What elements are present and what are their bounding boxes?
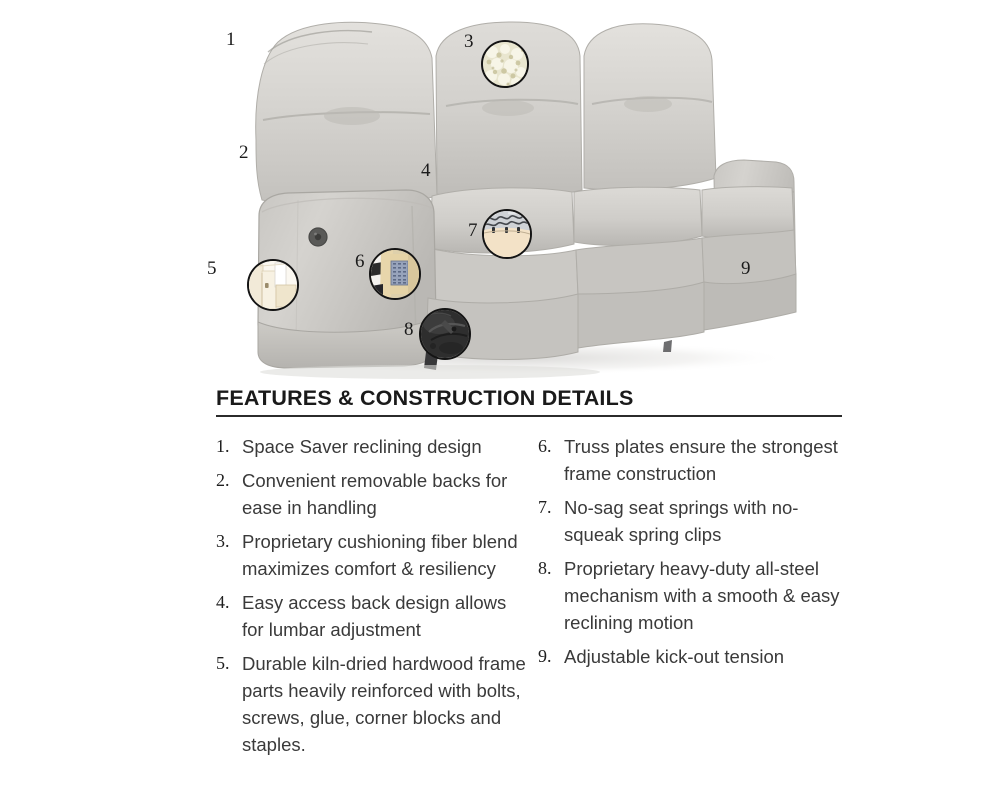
feature-number-1: 1. [216, 433, 242, 460]
feature-item-8: 8. Proprietary heavy-duty all-steel mech… [538, 555, 842, 636]
callout-number-4: 4 [421, 161, 431, 180]
feature-item-4: 4. Easy access back design allows for lu… [216, 589, 532, 643]
feature-item-6: 6. Truss plates ensure the strongest fra… [538, 433, 842, 487]
inset-hardwood-frame [247, 259, 299, 311]
feature-text-5: Durable kiln-dried hardwood frame parts … [242, 650, 532, 758]
feature-item-3: 3. Proprietary cushioning fiber blend ma… [216, 528, 532, 582]
feature-text-2: Convenient removable backs for ease in h… [242, 467, 532, 521]
feature-text-8: Proprietary heavy-duty all-steel mechani… [564, 555, 842, 636]
features-column-right: 6. Truss plates ensure the strongest fra… [538, 433, 842, 677]
features-construction-section: FEATURES & CONSTRUCTION DETAILS 1. Space… [216, 386, 842, 765]
feature-text-9: Adjustable kick-out tension [564, 643, 842, 670]
callout-layer: 1 2 3 4 5 6 7 8 9 [0, 0, 1000, 380]
feature-number-3: 3. [216, 528, 242, 555]
feature-number-7: 7. [538, 494, 564, 521]
callout-number-2: 2 [239, 143, 249, 162]
feature-text-6: Truss plates ensure the strongest frame … [564, 433, 842, 487]
feature-item-5: 5. Durable kiln-dried hardwood frame par… [216, 650, 532, 758]
feature-item-9: 9. Adjustable kick-out tension [538, 643, 842, 670]
callout-number-1: 1 [226, 30, 236, 49]
callout-number-6: 6 [355, 252, 365, 271]
inset-fiber-fill [481, 40, 529, 88]
feature-text-3: Proprietary cushioning fiber blend maxim… [242, 528, 532, 582]
features-columns: 1. Space Saver reclining design 2. Conve… [216, 433, 842, 765]
callout-number-3: 3 [464, 32, 474, 51]
features-column-left: 1. Space Saver reclining design 2. Conve… [216, 433, 538, 765]
feature-number-5: 5. [216, 650, 242, 677]
inset-seat-springs [482, 209, 532, 259]
inset-truss-plate [369, 248, 421, 300]
feature-item-7: 7. No-sag seat springs with no-squeak sp… [538, 494, 842, 548]
feature-text-7: No-sag seat springs with no-squeak sprin… [564, 494, 842, 548]
feature-item-1: 1. Space Saver reclining design [216, 433, 532, 460]
callout-number-9: 9 [741, 259, 751, 278]
inset-steel-mechanism [419, 308, 471, 360]
callout-number-8: 8 [404, 320, 414, 339]
callout-number-5: 5 [207, 259, 217, 278]
feature-number-4: 4. [216, 589, 242, 616]
callout-number-7: 7 [468, 221, 478, 240]
section-title: FEATURES & CONSTRUCTION DETAILS [216, 386, 842, 415]
feature-number-2: 2. [216, 467, 242, 494]
feature-number-8: 8. [538, 555, 564, 582]
feature-list-left: 1. Space Saver reclining design 2. Conve… [216, 433, 532, 758]
feature-text-1: Space Saver reclining design [242, 433, 532, 460]
feature-text-4: Easy access back design allows for lumba… [242, 589, 532, 643]
feature-number-9: 9. [538, 643, 564, 670]
title-underline [216, 415, 842, 417]
feature-list-right: 6. Truss plates ensure the strongest fra… [538, 433, 842, 670]
feature-item-2: 2. Convenient removable backs for ease i… [216, 467, 532, 521]
page-root: 1 2 3 4 5 6 7 8 9 [0, 0, 1000, 800]
feature-number-6: 6. [538, 433, 564, 460]
